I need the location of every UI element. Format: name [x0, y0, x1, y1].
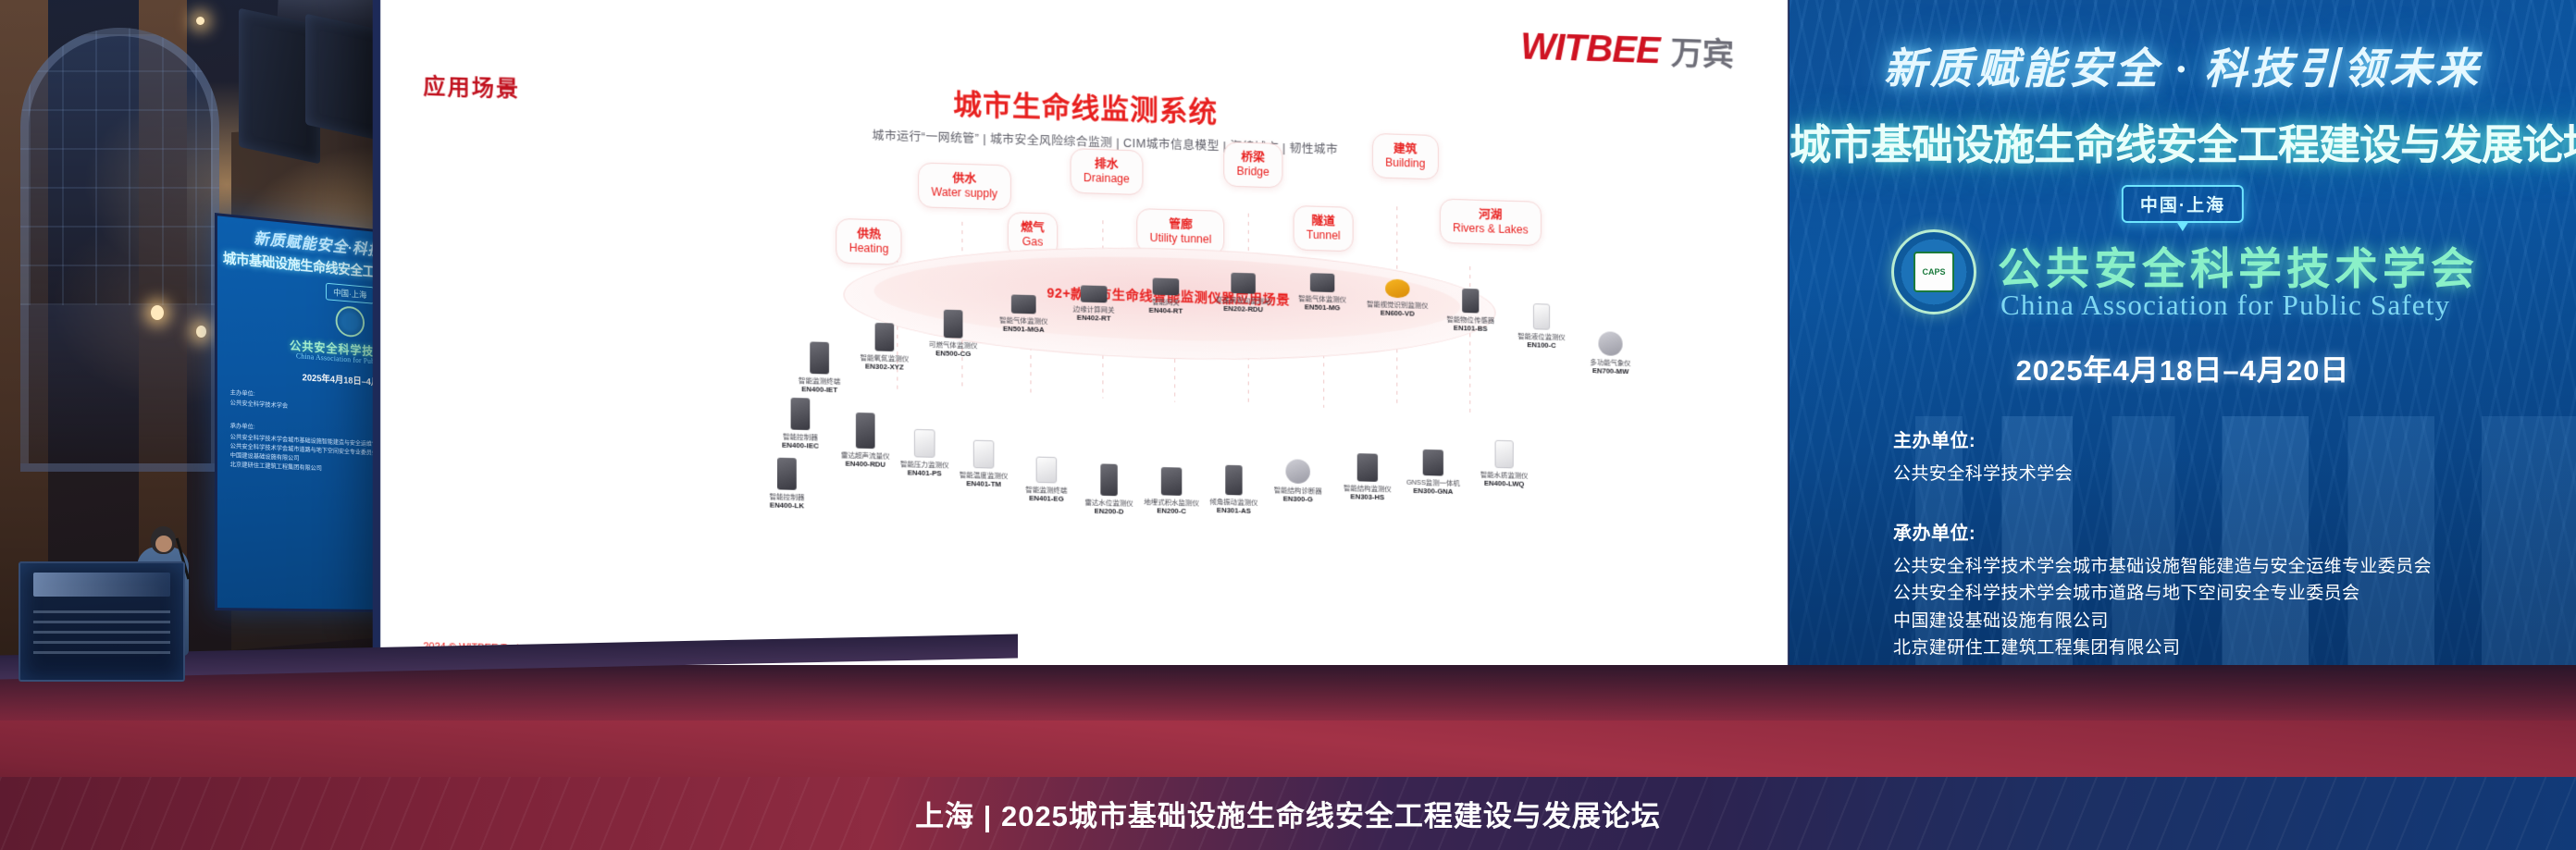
banner-location-chip: 中国·上海 — [2122, 185, 2244, 223]
coorganizer-heading: 承办单位: — [1893, 518, 2432, 545]
sensor-box-icon — [1231, 273, 1255, 294]
mini-banner-host-heading: 主办单位: — [230, 388, 255, 400]
bottom-bar-title: 上海 | 2025城市基础设施生命线安全工程建设与发展论坛 — [0, 777, 2576, 850]
scenario-pill-bridge[interactable]: 桥梁 Bridge — [1223, 142, 1282, 189]
pill-label-cn: 桥梁 — [1237, 150, 1269, 166]
device-item[interactable]: 智能气体监测仪 EN501-MG — [1282, 272, 1362, 314]
stage-front-edge — [0, 665, 2576, 721]
lectern-podium — [19, 561, 185, 682]
device-item[interactable]: 智能水质监测仪 EN400-LWQ — [1464, 439, 1544, 489]
device-item[interactable]: 智能网关 EN404-RT — [1125, 277, 1207, 317]
scenario-pill-heating[interactable]: 供热 Heating — [836, 218, 902, 265]
host-line: 公共安全科学技术学会 — [1893, 461, 2073, 487]
device-model: EN300-GNA — [1393, 486, 1473, 497]
device-item[interactable]: 智能视觉识别监测仪 EN600-VD — [1357, 278, 1438, 320]
device-model: EN700-MW — [1570, 366, 1650, 377]
podium-text-block — [33, 606, 170, 654]
arched-window — [20, 28, 219, 305]
weather-station-icon — [1598, 331, 1622, 356]
sensor-box-icon — [777, 458, 797, 490]
scenario-pill-building[interactable]: 建筑 Building — [1372, 133, 1439, 180]
sensor-box-icon — [1462, 289, 1479, 314]
speaker-person-face — [155, 536, 172, 552]
podium-logo — [33, 573, 170, 597]
mini-banner-location-chip: 中国·上海 — [326, 283, 374, 304]
temperature-sensor-icon — [973, 440, 995, 469]
pill-label-cn: 排水 — [1084, 156, 1130, 173]
arched-window-lower — [20, 305, 219, 472]
device-item[interactable]: GNSS监测一体机 EN300-GNA — [1393, 449, 1473, 497]
sensor-box-icon — [875, 323, 895, 351]
monitor-terminal-icon — [1036, 457, 1058, 484]
pill-label-cn: 燃气 — [1021, 220, 1045, 236]
pill-label-en: Gas — [1021, 235, 1045, 250]
device-item[interactable]: 智能监测终端 EN400-IET — [778, 340, 861, 395]
banner-host-section: 主办单位: 公共安全科学技术学会 — [1893, 425, 2073, 487]
coorganizer-line: 公共安全科学技术学会城市道路与地下空间安全专业委员会 — [1893, 580, 2432, 607]
device-item[interactable]: 多功能气象仪 EN700-MW — [1570, 330, 1650, 376]
gateway-icon — [1081, 285, 1108, 302]
pill-label-en: Drainage — [1084, 171, 1130, 187]
sensor-box-icon — [1011, 294, 1036, 314]
pill-label-cn: 管廊 — [1150, 216, 1212, 233]
brand-name-en: WITBEE — [1520, 26, 1660, 72]
main-led-screen: WITBEE 万宾 应用场景 城市生命线监测系统 城市运行“一网统管” | 城市… — [373, 0, 1795, 721]
banner-org-cn: 公共安全科学技术学会 — [1998, 233, 2479, 297]
mini-banner-coorg-heading: 承办单位: — [230, 422, 255, 432]
scenario-pill-tunnel[interactable]: 隧道 Tunnel — [1294, 205, 1354, 253]
pill-label-cn: 供热 — [849, 226, 889, 242]
banner-date: 2025年4月18日–4月20日 — [1790, 347, 2576, 388]
gnss-monitor-icon — [1423, 450, 1443, 476]
device-model: EN400-LWQ — [1464, 478, 1544, 489]
pill-label-cn: 建筑 — [1385, 141, 1425, 156]
brand-name-cn: 万宾 — [1671, 28, 1734, 75]
pill-label-en: Tunnel — [1307, 228, 1341, 244]
coorganizer-line: 中国建设基础设施有限公司 — [1893, 608, 2432, 634]
host-heading: 主办单位: — [1893, 425, 2073, 452]
witbee-logo: WITBEE 万宾 — [1520, 22, 1734, 75]
banner-calligraphy: 新质赋能安全 · 科技引领未来 — [1790, 35, 2576, 96]
water-quality-icon — [1495, 440, 1514, 469]
pressure-sensor-icon — [914, 429, 935, 458]
coorganizer-line: 公共安全科学技术学会城市基础设施智能建造与安全运维专业委员会 — [1893, 553, 2432, 580]
sensor-box-icon — [1533, 303, 1550, 330]
scenario-pill-drainage[interactable]: 排水 Drainage — [1071, 148, 1144, 195]
sensor-box-icon — [944, 310, 963, 339]
caps-seal-icon — [336, 305, 365, 338]
sensor-box-icon — [1310, 273, 1334, 292]
spotlight — [151, 305, 164, 320]
pill-label-en: Water supply — [931, 185, 997, 202]
mini-banner-host-line: 公共安全科学技术学会 — [230, 399, 288, 412]
spotlight — [196, 17, 204, 25]
device-item[interactable]: 智能控制器 EN400-LK — [746, 457, 828, 511]
device-item[interactable]: 边缘计算网关 EN402-RT — [1053, 285, 1134, 325]
pill-label-en: Utility tunnel — [1150, 231, 1212, 247]
radar-level-icon — [1100, 463, 1117, 496]
screenshot-root: 新质赋能安全·科技引领未来 城市基础设施生命线安全工程建设与发展论坛 中国·上海… — [0, 0, 2576, 850]
sensor-box-icon — [791, 398, 811, 430]
device-model: EN400-LK — [746, 500, 828, 511]
structure-diagnostic-icon — [1285, 459, 1309, 484]
pill-label-cn: 隧道 — [1307, 213, 1341, 228]
water-level-icon — [1161, 467, 1182, 496]
slide-title: 城市生命线监测系统 — [953, 80, 1218, 129]
device-item[interactable]: 智能物位传感器 EN101-BS — [1430, 288, 1511, 335]
scenario-pill-rivers-lakes[interactable]: 河湖 Rivers & Lakes — [1440, 199, 1542, 247]
bottom-title-bar: 上海 | 2025城市基础设施生命线安全工程建设与发展论坛 — [0, 777, 2576, 850]
presentation-slide: WITBEE 万宾 应用场景 城市生命线监测系统 城市运行“一网统管” | 城市… — [380, 0, 1788, 714]
camera-dome-icon — [1385, 278, 1409, 298]
gateway-icon — [1153, 277, 1180, 295]
caps-seal-icon: CAPS — [1891, 229, 1976, 314]
structure-monitor-icon — [1357, 453, 1378, 482]
sensor-box-icon — [810, 341, 829, 374]
flow-meter-icon — [856, 413, 875, 449]
banner-forum-title: 城市基础设施生命线安全工程建设与发展论坛 — [1790, 111, 2576, 171]
scenario-pill-water-supply[interactable]: 供水 Water supply — [918, 162, 1010, 210]
pill-label-en: Bridge — [1237, 165, 1269, 180]
device-model: EN301-AS — [1194, 505, 1275, 516]
pill-label-en: Building — [1385, 155, 1425, 171]
caps-seal-text: CAPS — [1913, 252, 1954, 292]
banner-coorganizer-section: 承办单位: 公共安全科学技术学会城市基础设施智能建造与安全运维专业委员会 公共安… — [1893, 518, 2432, 662]
coorganizer-line: 北京建研住工建筑工程集团有限公司 — [1893, 634, 2432, 661]
scene-tag: 应用场景 — [423, 68, 520, 103]
vibration-sensor-icon — [1225, 465, 1242, 496]
pill-label-en: Rivers & Lakes — [1453, 221, 1529, 238]
banner-org-en: China Association for Public Safety — [2000, 289, 2450, 322]
device-model: EN400-IET — [778, 384, 861, 395]
pill-label-en: Heating — [849, 241, 889, 257]
device-item[interactable]: 变送阀双向监测站 EN202-RDU — [1203, 272, 1284, 315]
spotlight — [196, 326, 206, 338]
